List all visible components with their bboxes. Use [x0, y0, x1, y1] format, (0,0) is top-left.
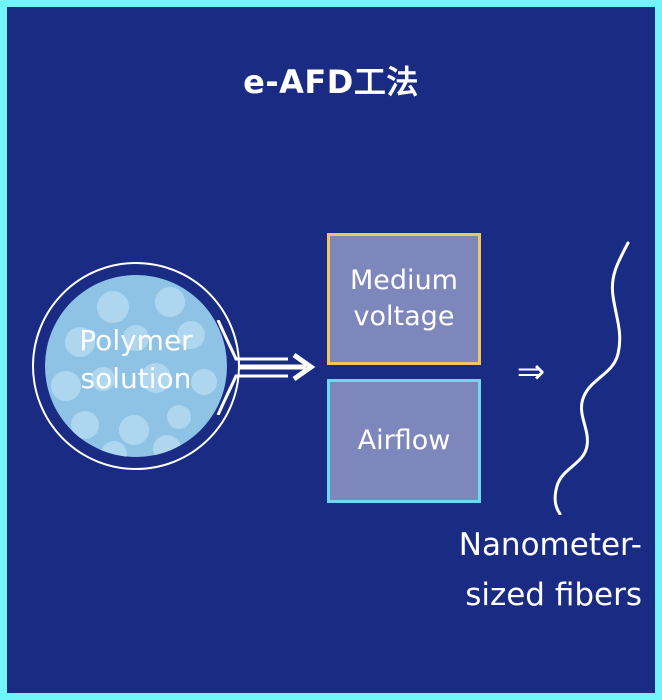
figure-canvas: e-AFD工法 Polymer solution Medium voltage: [0, 0, 662, 700]
polymer-solution-label: Polymer solution: [32, 322, 240, 398]
nanofiber-caption: Nanometer- sized fibers: [222, 520, 642, 620]
medium-voltage-label-line1: Medium: [350, 263, 458, 299]
polymer-solution-node: Polymer solution: [32, 262, 240, 470]
airflow-label-line1: Airflow: [358, 423, 451, 459]
polymer-solution-label-line1: Polymer: [32, 322, 240, 360]
nanofiber-wavy-line-icon: [540, 240, 650, 515]
medium-voltage-label-line2: voltage: [350, 299, 458, 335]
process-box-medium-voltage[interactable]: Medium voltage: [327, 233, 481, 365]
nanofiber-caption-line1: Nanometer-: [222, 520, 642, 570]
nanofiber-caption-line2: sized fibers: [222, 570, 642, 620]
process-box-airflow[interactable]: Airflow: [327, 379, 481, 503]
polymer-solution-label-line2: solution: [32, 360, 240, 398]
figure-title: e-AFD工法: [0, 57, 662, 103]
